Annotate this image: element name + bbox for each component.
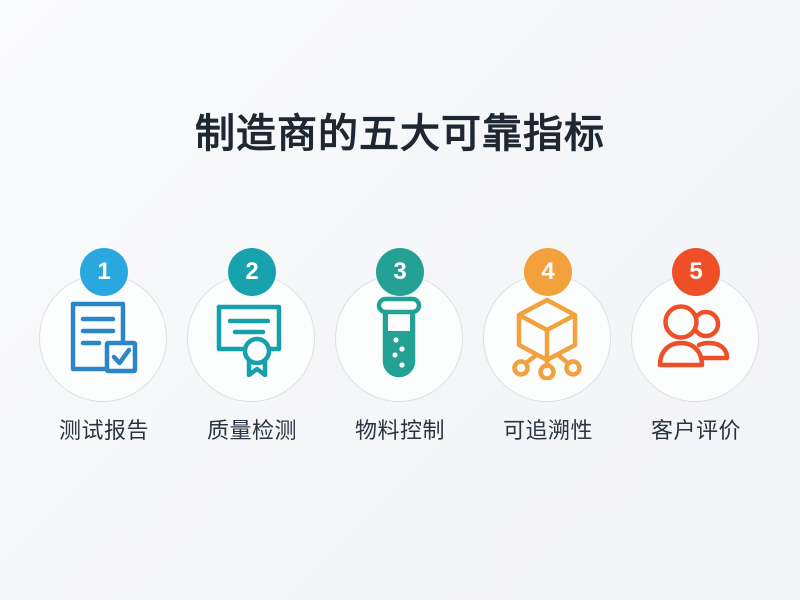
icon-circle-wrapper: 5 <box>622 248 770 396</box>
indicator-label: 可追溯性 <box>503 416 593 446</box>
indicator-items-row: 1 测试报告 2 <box>0 248 800 446</box>
step-number-label: 3 <box>393 260 406 284</box>
icon-circle-wrapper: 2 <box>178 248 326 396</box>
step-number-label: 4 <box>541 260 554 284</box>
step-number-badge: 4 <box>524 248 572 296</box>
indicator-label: 质量检测 <box>207 416 297 446</box>
icon-circle-wrapper: 4 <box>474 248 622 396</box>
indicator-item-material-control[interactable]: 3 物料控制 <box>326 248 474 446</box>
step-number-label: 2 <box>245 260 258 284</box>
indicator-label: 客户评价 <box>651 416 741 446</box>
step-number-badge: 1 <box>80 248 128 296</box>
step-number-label: 1 <box>97 260 110 284</box>
indicator-item-quality-inspection[interactable]: 2 质量检测 <box>178 248 326 446</box>
infographic-slide: 制造商的五大可靠指标 1 <box>0 0 800 600</box>
page-title: 制造商的五大可靠指标 <box>0 108 800 160</box>
indicator-item-customer-review[interactable]: 5 客户评价 <box>622 248 770 446</box>
icon-circle-wrapper: 3 <box>326 248 474 396</box>
indicator-label: 物料控制 <box>355 416 445 446</box>
step-number-badge: 2 <box>228 248 276 296</box>
indicator-item-traceability[interactable]: 4 可追溯性 <box>474 248 622 446</box>
step-number-badge: 5 <box>672 248 720 296</box>
indicator-label: 测试报告 <box>59 416 149 446</box>
indicator-item-test-report[interactable]: 1 测试报告 <box>30 248 178 446</box>
step-number-label: 5 <box>689 260 702 284</box>
step-number-badge: 3 <box>376 248 424 296</box>
icon-circle-wrapper: 1 <box>30 248 178 396</box>
